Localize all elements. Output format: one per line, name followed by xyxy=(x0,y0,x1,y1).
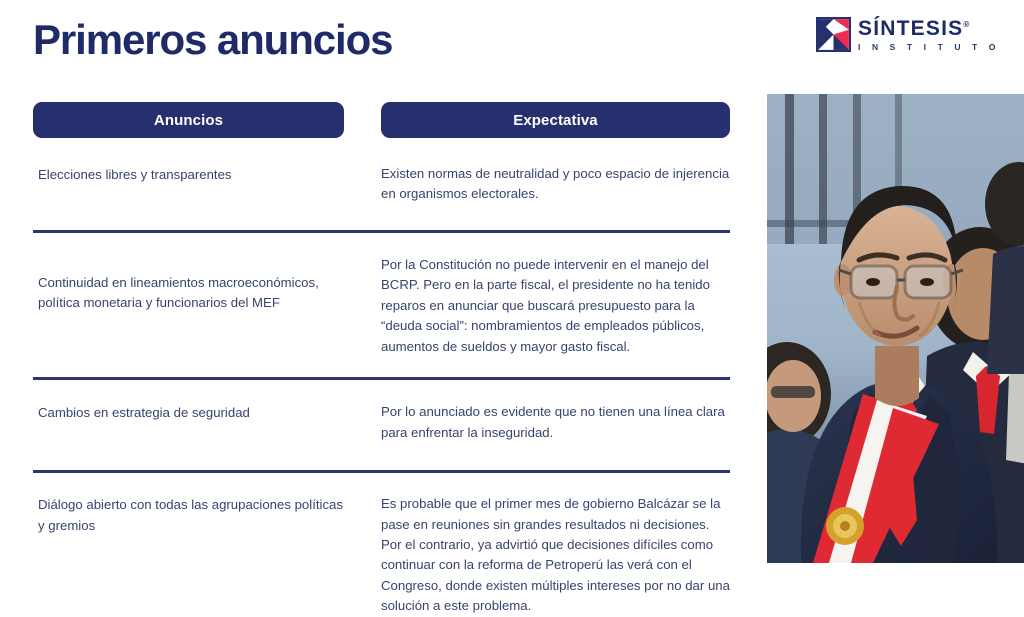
table-row: Cambios en estrategia de seguridad Por l… xyxy=(33,402,730,443)
brand-logo: SÍNTESIS® I N S T I T U T O xyxy=(816,17,1000,52)
cell-expectation: Es probable que el primer mes de gobiern… xyxy=(381,494,730,617)
cell-announcement: Elecciones libres y transparentes xyxy=(33,164,344,185)
table-row: Diálogo abierto con todas las agrupacion… xyxy=(33,494,730,617)
row-divider xyxy=(33,377,730,380)
logo-subtitle: I N S T I T U T O xyxy=(858,43,1000,52)
cell-expectation: Existen normas de neutralidad y poco esp… xyxy=(381,164,730,205)
column-header-expectativa: Expectativa xyxy=(381,102,730,138)
logo-name: SÍNTESIS® xyxy=(858,18,1000,39)
cell-expectation: Por lo anunciado es evidente que no tien… xyxy=(381,402,730,443)
registered-mark-icon: ® xyxy=(963,20,969,29)
cell-expectation: Por la Constitución no puede intervenir … xyxy=(381,255,730,357)
row-divider xyxy=(33,230,730,233)
cell-announcement: Continuidad en lineamientos macroeconómi… xyxy=(33,255,344,314)
logo-name-text: SÍNTESIS xyxy=(858,17,963,40)
row-divider xyxy=(33,470,730,473)
president-portrait-photo xyxy=(767,94,1024,563)
portrait-illustration xyxy=(767,94,1024,563)
sintesis-logo-mark-icon xyxy=(816,17,851,52)
table-row: Elecciones libres y transparentes Existe… xyxy=(33,164,730,205)
page-title: Primeros anuncios xyxy=(33,18,392,62)
table-row: Continuidad en lineamientos macroeconómi… xyxy=(33,255,730,357)
cell-announcement: Diálogo abierto con todas las agrupacion… xyxy=(33,494,344,536)
cell-announcement: Cambios en estrategia de seguridad xyxy=(33,402,344,423)
column-header-anuncios: Anuncios xyxy=(33,102,344,138)
logo-text-block: SÍNTESIS® I N S T I T U T O xyxy=(858,18,1000,52)
announcements-table: Anuncios Expectativa Elecciones libres y… xyxy=(33,102,730,617)
table-header-row: Anuncios Expectativa xyxy=(33,102,730,138)
